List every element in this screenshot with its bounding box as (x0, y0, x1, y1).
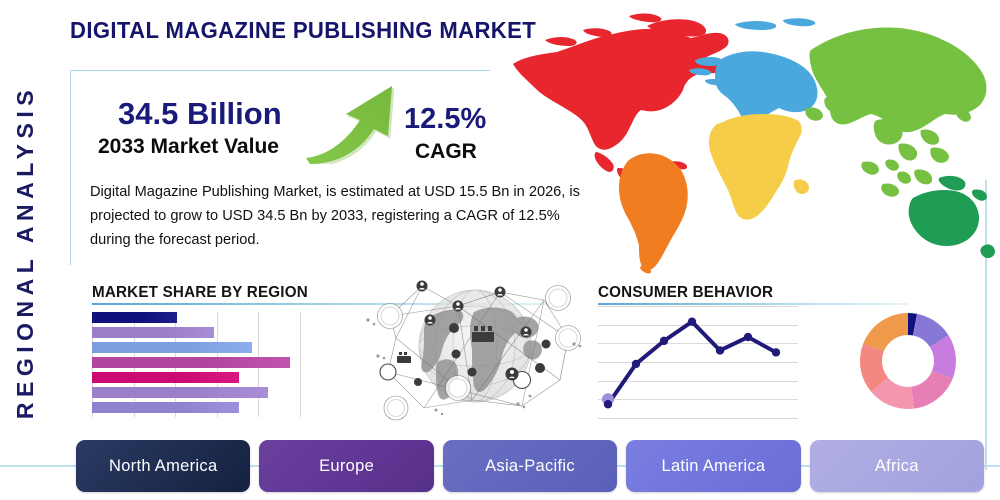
bar-fill (92, 312, 177, 323)
cagr-label: CAGR (415, 140, 477, 164)
bar-row (92, 387, 268, 398)
bar-fill (92, 357, 290, 368)
market-value: 34.5 Billion (118, 96, 282, 132)
line-marker (632, 360, 640, 368)
consumer-behavior-heading: CONSUMER BEHAVIOR (598, 284, 773, 302)
bar-fill (92, 342, 252, 353)
bar-row (92, 357, 290, 368)
region-button-africa[interactable]: Africa (810, 440, 984, 492)
bar-fill (92, 372, 239, 383)
market-share-bar-chart (92, 312, 300, 417)
region-button-label: Europe (319, 457, 374, 476)
bar-row (92, 342, 252, 353)
infographic-root: REGIONAL ANALYSIS DIGITAL MAGAZINE PUBLI… (0, 0, 1000, 500)
world-map-icon (495, 2, 1000, 274)
region-button-asia-pacific[interactable]: Asia-Pacific (443, 440, 617, 492)
region-button-europe[interactable]: Europe (259, 440, 433, 492)
growth-arrow-icon (300, 84, 410, 164)
vertical-section-label: REGIONAL ANALYSIS (12, 42, 52, 462)
global-network-icon (362, 276, 588, 422)
region-button-label: Africa (875, 457, 919, 476)
bar-row (92, 312, 177, 323)
region-button-bar: North AmericaEuropeAsia-PacificLatin Ame… (76, 440, 984, 492)
line-marker (744, 333, 752, 341)
region-distribution-donut-chart (852, 305, 964, 417)
region-button-label: Asia-Pacific (485, 457, 575, 476)
consumer-behavior-line-chart (598, 306, 798, 418)
cagr-value: 12.5% (404, 103, 486, 136)
line-marker (688, 317, 696, 325)
bar-fill (92, 402, 239, 413)
market-value-label: 2033 Market Value (98, 135, 279, 159)
line-marker (604, 400, 612, 408)
region-button-label: North America (109, 457, 217, 476)
region-button-latin-america[interactable]: Latin America (626, 440, 800, 492)
bar-row (92, 402, 239, 413)
donut-segment (863, 313, 908, 351)
line-marker (716, 346, 724, 354)
region-button-north-america[interactable]: North America (76, 440, 250, 492)
page-title: DIGITAL MAGAZINE PUBLISHING MARKET (70, 17, 536, 44)
bar-row (92, 327, 214, 338)
bar-row (92, 372, 239, 383)
region-button-label: Latin America (661, 457, 765, 476)
market-share-heading: MARKET SHARE BY REGION (92, 284, 308, 302)
line-marker (772, 348, 780, 356)
bar-fill (92, 387, 268, 398)
donut-segment (911, 371, 952, 409)
line-marker (660, 337, 668, 345)
bar-fill (92, 327, 214, 338)
